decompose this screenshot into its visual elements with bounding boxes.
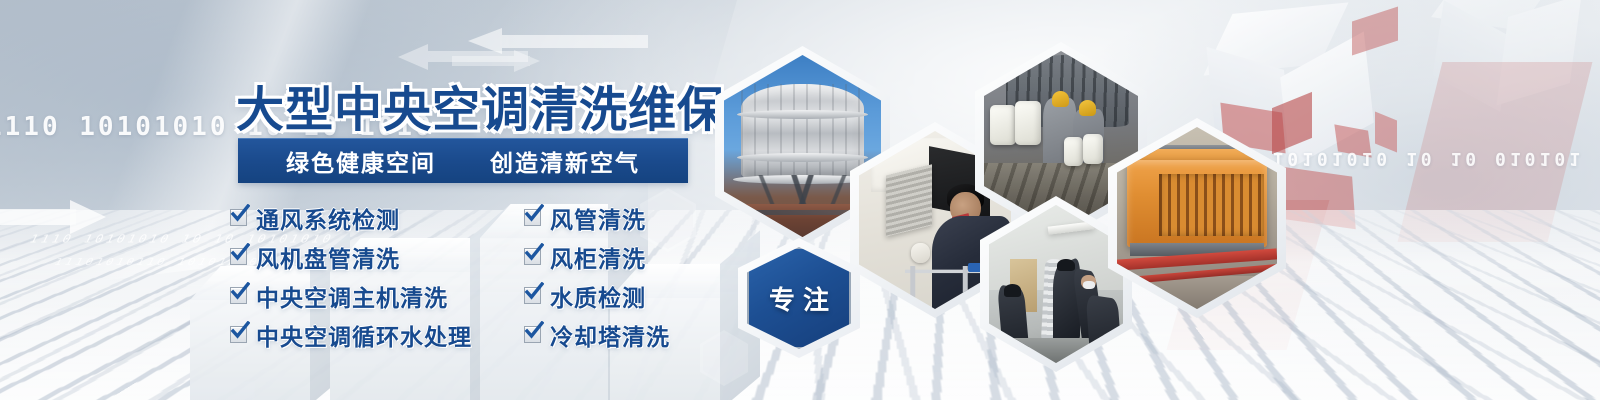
feature-item[interactable]: 中央空调主机清洗 [230,276,520,315]
floating-cube-2 [1440,0,1570,100]
badge-label: 专注 [761,280,837,317]
feature-label: 风柜清洗 [550,240,646,274]
feature-column-right: 风管清洗 风柜清洗 水质检测 [524,198,704,354]
feature-label: 中央空调循环水处理 [256,318,472,352]
cube-face-left [1433,0,1511,111]
checkbox-checked-icon [524,209,541,226]
checkbox-checked-icon [230,326,247,343]
checkbox-checked-icon [230,248,247,265]
red-plate-5 [1352,7,1398,56]
slogan-text: 绿色健康空间 创造清新空气 [286,144,640,178]
red-plate-3 [1334,124,1371,157]
feature-label: 冷却塔清洗 [550,318,670,352]
checkbox-checked-icon [524,248,541,265]
checkbox-checked-icon [230,209,247,226]
cube-face-right [1497,0,1582,105]
feature-item[interactable]: 冷却塔清洗 [524,315,704,354]
promo-banner: 1110 10101010 10 10 1010 1110 10101010 1… [0,0,1600,400]
feature-label: 风机盘管清洗 [256,240,400,274]
text-panel: 大型中央空调清洗维保 绿色健康空间 创造清新空气 通风系统检测 [212,26,712,374]
slogan-right: 创造清新空气 [490,151,640,177]
feature-label: 风管清洗 [550,201,646,235]
feature-column-left: 通风系统检测 风机盘管清洗 中央空调主机清洗 [230,198,520,354]
binary-text-right: 10101010 10 10 010101 [1272,148,1584,169]
feature-label: 中央空调主机清洗 [256,279,448,313]
feature-item[interactable]: 通风系统检测 [230,198,520,237]
red-panel-large-right [1398,62,1593,242]
page-title: 大型中央空调清洗维保 [236,70,726,140]
feature-item[interactable]: 风管清洗 [524,198,704,237]
slogan-left: 绿色健康空间 [286,151,436,177]
hexagon-photo-chiller-unit[interactable] [1108,118,1286,318]
arrow-right-icon [0,200,110,234]
focus-badge[interactable]: 专注 [738,238,860,358]
checkbox-checked-icon [524,326,541,343]
feature-item[interactable]: 风机盘管清洗 [230,237,520,276]
feature-label: 通风系统检测 [256,201,400,235]
feature-item[interactable]: 中央空调循环水处理 [230,315,520,354]
feature-item[interactable]: 水质检测 [524,276,704,315]
cube-face-top [1431,0,1557,30]
feature-item[interactable]: 风柜清洗 [524,237,704,276]
red-plate-6 [1375,112,1397,153]
checkbox-checked-icon [524,287,541,304]
slogan-bar: 绿色健康空间 创造清新空气 [238,138,688,183]
checkbox-checked-icon [230,287,247,304]
feature-label: 水质检测 [550,279,646,313]
hexagon-photo-cluster: 专注 [690,0,1310,400]
